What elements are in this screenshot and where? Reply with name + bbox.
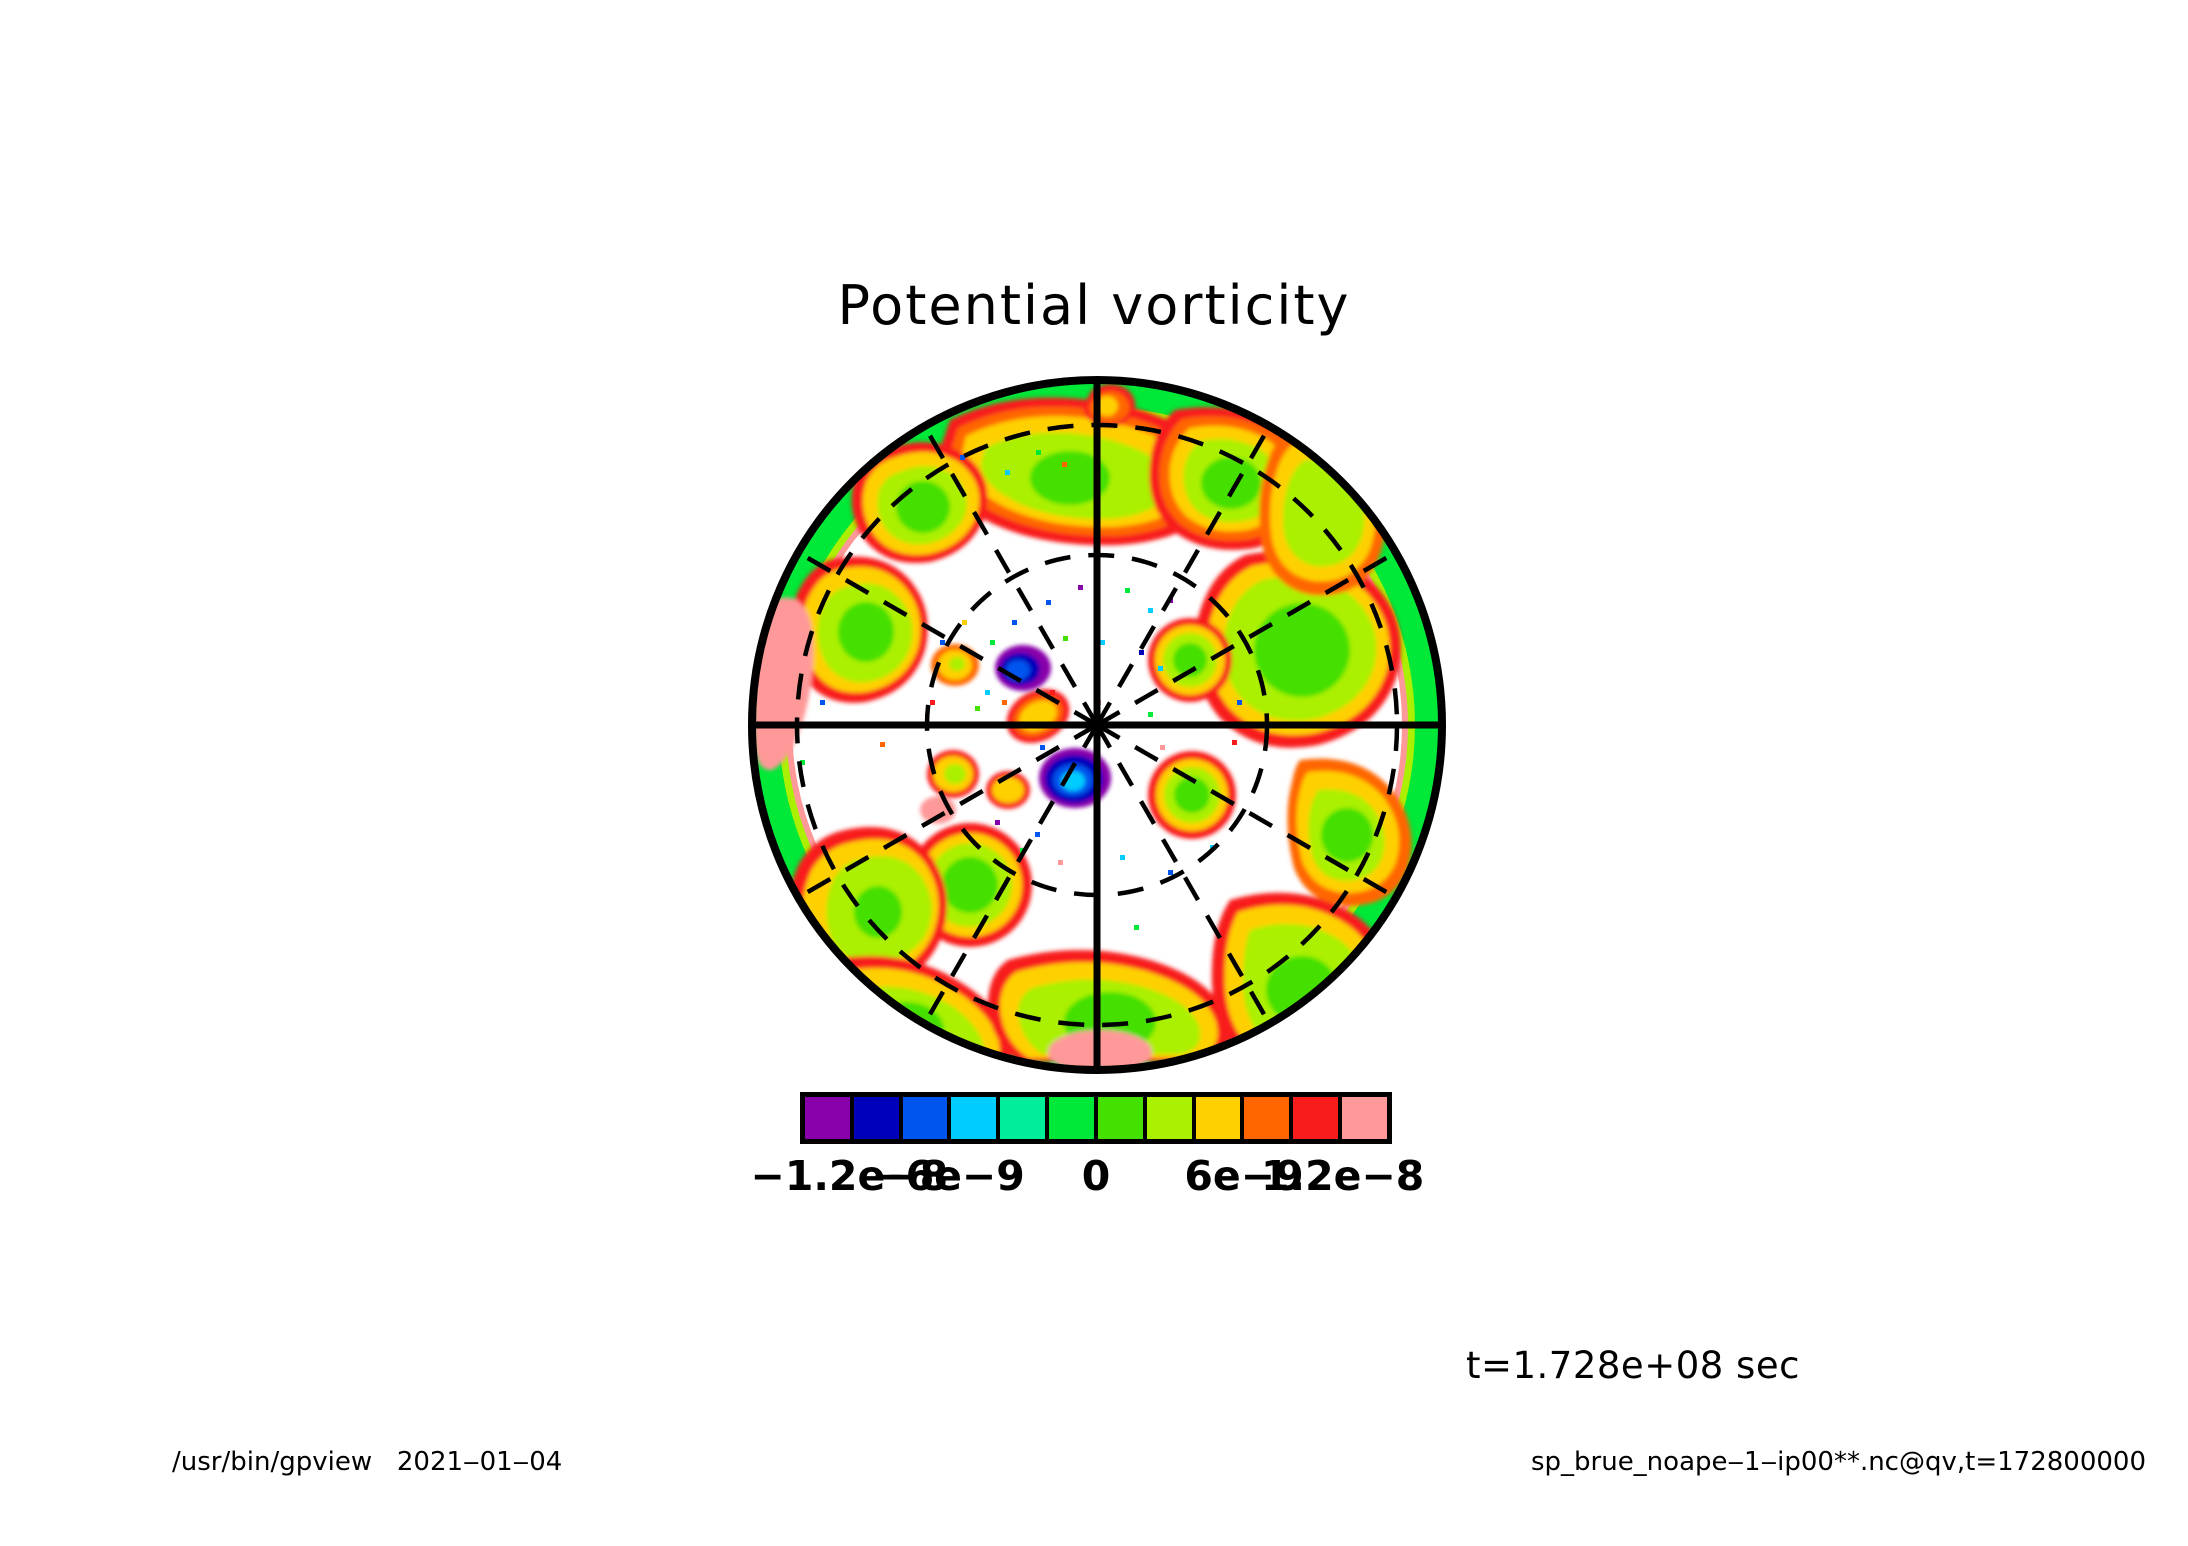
colorbar-band bbox=[805, 1097, 854, 1139]
colorbar[interactable] bbox=[800, 1092, 1392, 1144]
colorbar-band bbox=[854, 1097, 903, 1139]
colorbar-band bbox=[1000, 1097, 1049, 1139]
colorbar-band bbox=[1049, 1097, 1098, 1139]
footer-command-date: /usr/bin/gpview 2021‒01‒04 bbox=[172, 1447, 562, 1477]
colorbar-band bbox=[903, 1097, 952, 1139]
polar-plot bbox=[0, 0, 2188, 1546]
colorbar-tick-labels: −1.2e−8 −6e−9 0 6e−9 1.2e−8 bbox=[690, 1152, 1510, 1206]
colorbar-band bbox=[1342, 1097, 1387, 1139]
colorbar-tick-label: −6e−9 bbox=[871, 1152, 1025, 1200]
colorbar-band bbox=[1244, 1097, 1293, 1139]
colorbar-tick-label: 1.2e−8 bbox=[1261, 1152, 1424, 1200]
footer-dataset-source: sp_brue_noape‒1‒ip00**.nc@qv,t=172800000 bbox=[1531, 1447, 2146, 1477]
colorbar-band bbox=[1098, 1097, 1147, 1139]
colorbar-band bbox=[1293, 1097, 1342, 1139]
colorbar-band bbox=[1147, 1097, 1196, 1139]
colorbar-band bbox=[1196, 1097, 1245, 1139]
colorbar-tick-label: 0 bbox=[1082, 1152, 1111, 1200]
colorbar-band bbox=[951, 1097, 1000, 1139]
time-annotation: t=1.728e+08 sec bbox=[1466, 1344, 1800, 1387]
figure-canvas: Potential vorticity bbox=[0, 0, 2188, 1546]
